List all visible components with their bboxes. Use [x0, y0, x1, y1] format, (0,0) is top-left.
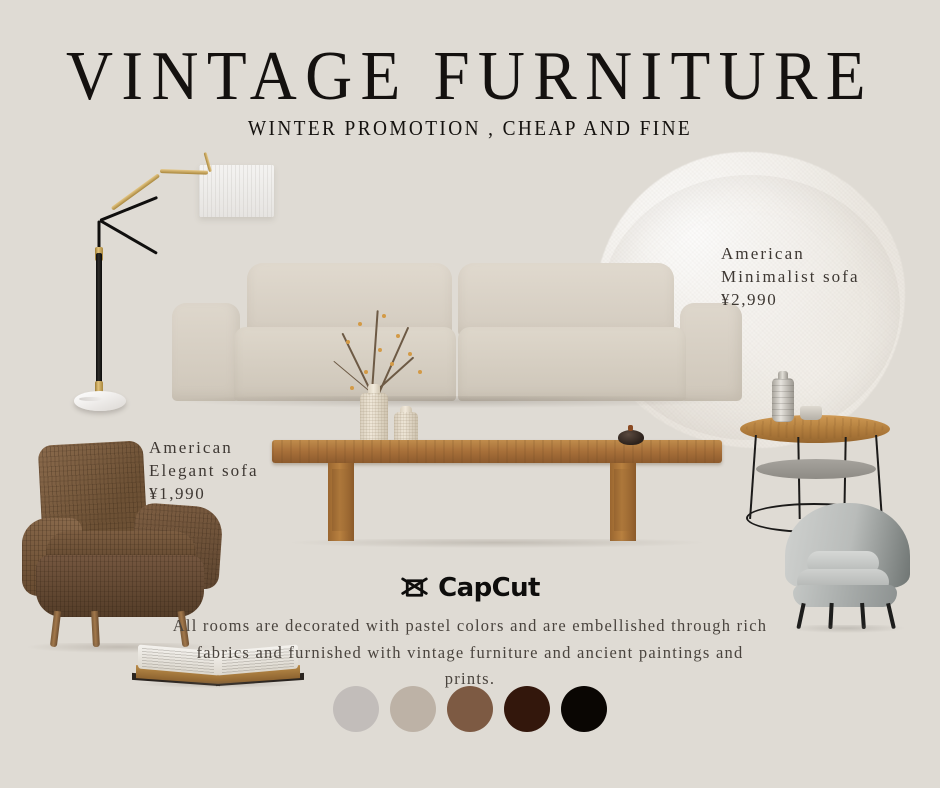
product-name-line: Minimalist sofa — [721, 266, 860, 289]
branch-stem-far-right — [374, 356, 414, 392]
product-brand-line: American — [149, 437, 259, 460]
sofa-backrest-right — [458, 263, 674, 337]
branch-berry — [364, 370, 368, 374]
modular-sofa — [162, 255, 742, 420]
ceramic-vase-tall — [360, 393, 388, 445]
sofa-shadow — [178, 396, 730, 408]
branch-berry — [346, 340, 350, 344]
branch-berry — [396, 334, 400, 338]
description-text: All rooms are decorated with pastel colo… — [170, 613, 770, 693]
bench-leg-right — [610, 463, 636, 541]
lamp-arm-black-diagonal — [99, 219, 158, 255]
product-price: ¥2,990 — [721, 289, 860, 312]
color-swatch — [390, 686, 436, 732]
capcut-branding: CapCut — [0, 575, 940, 601]
sofa-seat-right — [458, 327, 686, 401]
lamp-arm-black-upper — [99, 196, 158, 222]
poster-canvas: VINTAGE FURNITURE WINTER PROMOTION , CHE… — [0, 0, 940, 788]
branch-berry — [418, 370, 422, 374]
color-swatch — [561, 686, 607, 732]
gray-armchair-shadow — [789, 625, 904, 633]
color-swatch — [504, 686, 550, 732]
page-title: VINTAGE FURNITURE — [33, 42, 907, 112]
product-price: ¥1,990 — [149, 483, 259, 506]
sofa-arm-right — [680, 303, 742, 401]
product-label-elegant-sofa: American Elegant sofa ¥1,990 — [149, 437, 259, 506]
product-label-minimalist-sofa: American Minimalist sofa ¥2,990 — [721, 243, 860, 312]
sofa-arm-left — [172, 303, 240, 401]
capcut-logo-icon — [400, 575, 429, 601]
bench-shadow — [292, 539, 702, 548]
branch-berry — [350, 386, 354, 390]
ceramic-lidded-bowl — [800, 406, 822, 420]
branch-berry — [358, 322, 362, 326]
bench-top — [272, 440, 722, 463]
ceramic-jar — [772, 378, 794, 422]
product-name-line: Elegant sofa — [149, 460, 259, 483]
product-brand-line: American — [721, 243, 860, 266]
clay-teapot — [618, 430, 644, 445]
armchair-leg — [50, 611, 61, 648]
branch-berry — [378, 348, 382, 352]
vase-texture — [360, 393, 388, 445]
color-swatch — [333, 686, 379, 732]
lamp-marble-base — [74, 391, 126, 411]
lamp-shade — [199, 165, 274, 217]
color-swatch — [447, 686, 493, 732]
gray-armchair — [785, 503, 910, 633]
wooden-bench — [272, 440, 722, 545]
branch-berry — [390, 362, 394, 366]
branch-berry — [382, 314, 386, 318]
dried-branches — [330, 300, 450, 410]
side-table-shelf — [756, 459, 876, 479]
lamp-arm-brass-top — [160, 169, 208, 175]
branch-berry — [408, 352, 412, 356]
capcut-wordmark: CapCut — [438, 575, 540, 601]
side-table-leg — [749, 435, 757, 519]
color-swatch-row — [0, 686, 940, 732]
bench-leg-left — [328, 463, 354, 541]
page-subtitle: WINTER PROMOTION , CHEAP AND FINE — [38, 118, 903, 139]
